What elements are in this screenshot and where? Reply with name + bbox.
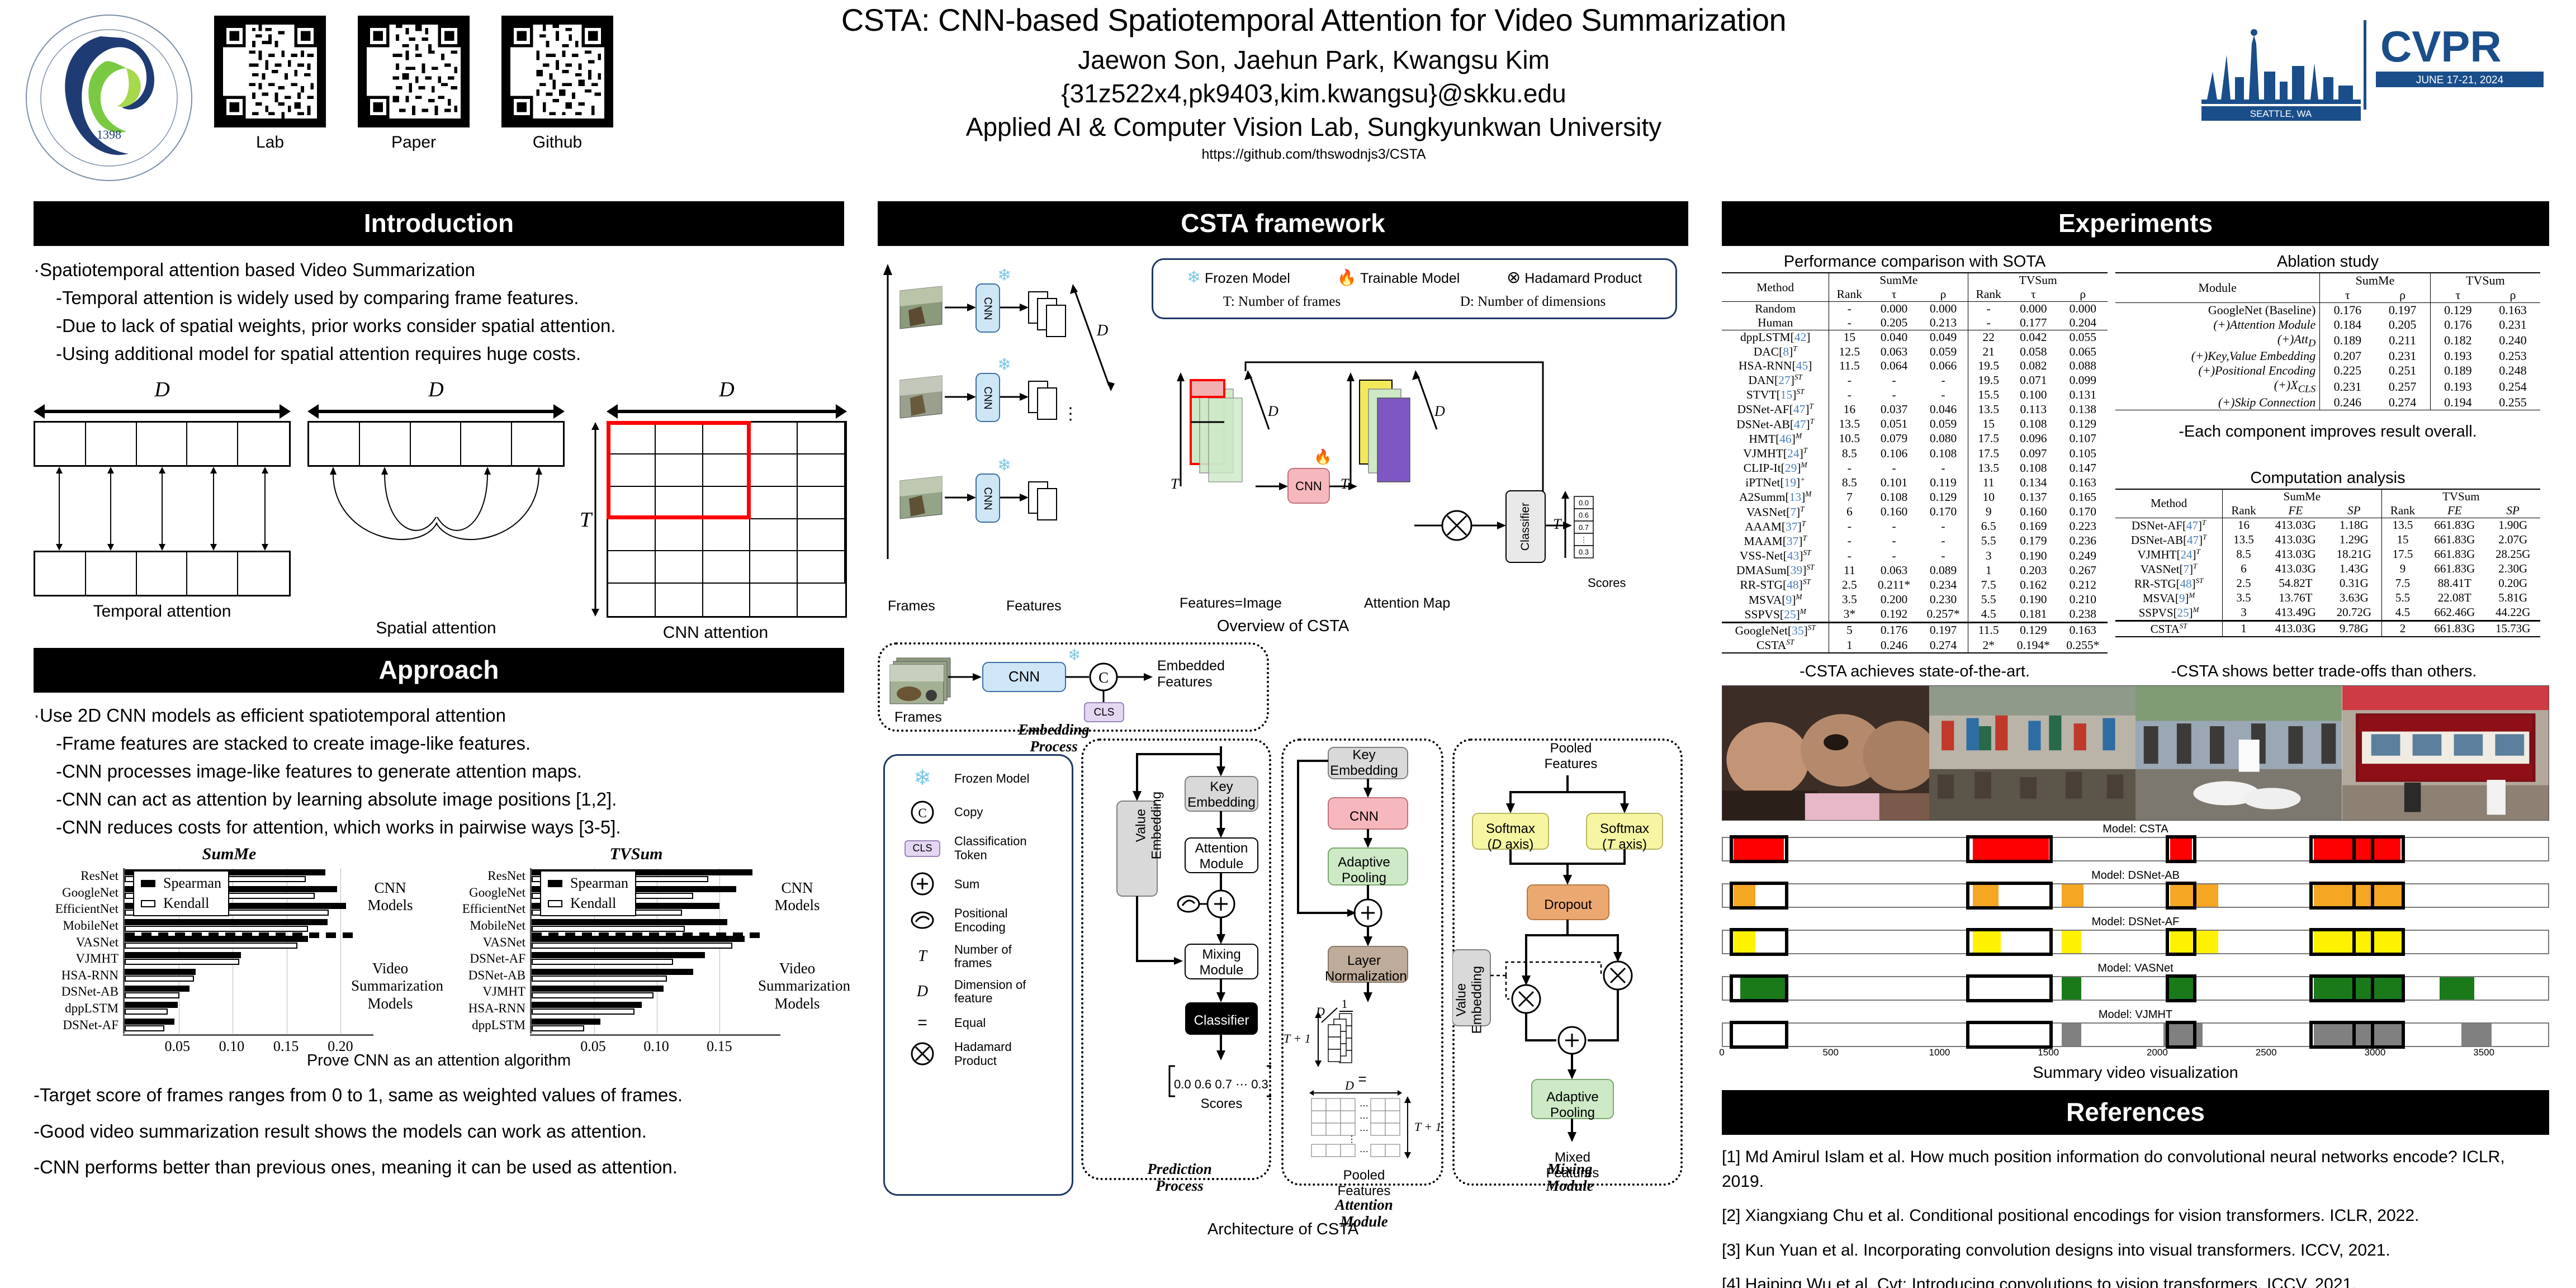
table-row: GoogleNet (Baseline)0.1760.1970.1290.163 [2115,303,2540,318]
approach-sub-1: -CNN processes image-like features to ge… [56,757,844,785]
section-band-experiments: Experiments [1722,201,2549,246]
table-row: (+)Skip Connection0.2460.2740.1940.255 [2115,395,2540,410]
computation-note: -CSTA shows better trade-offs than other… [2108,662,2540,681]
svg-text:T + 1: T + 1 [1414,1120,1442,1134]
cvpr-location: SEATTLE, WA [2250,108,2312,119]
video-axis-tick-label: 1000 [1929,1047,1950,1058]
t-symbol-icon: T [892,936,953,970]
chart-y-tick-label: MobileNet [34,918,119,933]
video-timeline-bar[interactable] [1722,837,2549,861]
intro-bullet: ·Spatiotemporal attention based Video Su… [34,256,844,284]
attention-key-embedding-label: KeyEmbedding [1325,747,1403,778]
chart-x-tick-label: 0.10 [643,1038,669,1055]
bar-spearman [125,1019,174,1025]
bar-spearman [532,936,745,942]
table-row: DSNet-AB[47]T13.50.0510.059150.1080.129 [1722,417,2108,432]
svg-text:D: D [1344,1078,1354,1092]
section-band-introduction: Introduction [34,201,844,246]
approach-charts: SumMe ResNetGoogleNetEfficientNetMobileN… [34,845,844,1050]
approach-conclusion-2: -CNN performs better than previous ones,… [34,1153,844,1181]
legend-t-def: T: Number of frames [1223,294,1341,310]
svg-text:0.0: 0.0 [1579,499,1589,507]
prediction-value-embedding-label: ValueEmbedding [1133,778,1164,873]
positional-encoding-icon [907,906,937,932]
video-frame-strip [1722,685,2549,821]
chart-x-tick-label: 0.15 [707,1038,732,1055]
embedding-frames-label: Frames [894,709,942,726]
video-segment [2461,1024,2492,1046]
fig-cnn-row-label: T [580,508,591,532]
bar-spearman [532,1019,600,1025]
table-row: (+)XCLS0.2310.2570.1930.254 [2115,378,2540,395]
chart-y-tick-label: dppLSTM [34,1001,119,1016]
chart-y-tick-label: DSNet-AF [441,951,525,966]
bar-kendall [125,992,179,998]
symbol-label-7: Equal [954,1007,1065,1032]
introduction-content: ·Spatiotemporal attention based Video Su… [34,256,844,368]
column-right: Experiments Performance comparison with … [1722,201,2549,1288]
symbol-label-6: Dimension offeature [954,972,1065,1006]
video-axis-tick-label: 1500 [2038,1047,2059,1058]
fig-temporal-top-row [34,421,291,467]
chart-annotation-cnn-models: CNNModels [764,879,831,914]
svg-text:T: T [1171,476,1180,492]
table-row: MAAM[37]T---5.50.1790.236 [1722,534,2108,548]
svg-text:CNN: CNN [982,297,993,320]
skku-logo: 1398 [17,11,201,184]
svg-text:=: = [1358,1071,1366,1087]
cls-token-icon: CLS [905,840,940,857]
approach-sub-3: -CNN reduces costs for attention, which … [56,813,844,841]
symbol-label-1: Copy [954,792,1065,827]
chart-y-tick-label: HSA-RNN [34,968,119,983]
svg-text:❄: ❄ [997,456,1011,475]
overview-features-label: Features [1006,598,1062,614]
fig-spatial-caption: Spatial attention [307,619,565,638]
fig-temporal-caption: Temporal attention [34,602,291,621]
approach-conclusion-1: -Good video summarization result shows t… [34,1117,844,1145]
mixing-value-embedding-label: ValueEmbedding [1453,955,1484,1045]
table-row: DAC[8]T12.50.0630.059210.0580.065 [1722,344,2108,359]
table-row: (+)Key,Value Embedding0.2070.2310.1930.2… [2115,349,2540,363]
fig-spatial-row [307,421,565,467]
qr-image-lab [214,16,326,127]
cvpr-name: CVPR [2380,22,2502,71]
attention-cnn-label: CNN [1325,809,1403,825]
table-row: DMASum[39]ST110.0630.08910.2030.267 [1722,563,2108,577]
snowflake-icon: ❄ [1187,268,1201,287]
svg-text:0.6: 0.6 [1579,511,1589,519]
framework-architecture: CNN ❄ C CLS EmbeddedFeatures Frames Embe… [878,642,1688,1218]
svg-text:Classifier: Classifier [1519,503,1532,551]
chart-summe-title: SumMe [34,845,425,864]
svg-text:⋮: ⋮ [1062,405,1079,423]
qr-label-github: Github [533,133,582,152]
bar-spearman [532,919,727,925]
table-row: (+)Attention Module0.1840.2050.1760.231 [2115,318,2540,332]
video-segment [2440,977,2474,1000]
chart-y-tick-label: DSNet-AB [441,968,525,983]
experiment-notes: -CSTA achieves state-of-the-art. -CSTA s… [1722,662,2549,681]
bar-spearman [125,1002,178,1008]
poster-header: 1398 [0,0,2576,196]
table-row: GoogleNet[35]ST50.1760.19711.50.1290.163 [1722,622,2108,638]
table-row [1722,653,2108,654]
sota-note: -CSTA achieves state-of-the-art. [1722,662,2108,681]
ablation-note: -Each component improves result overall. [2115,423,2540,441]
video-timeline-bar[interactable] [1722,930,2549,954]
ablation-table: ModuleSumMeTVSumτρτρGoogleNet (Baseline)… [2115,272,2540,410]
equal-icon: = [892,1007,953,1032]
hadamard-icon: ⊗ [1507,268,1521,287]
bar-kendall [125,943,297,949]
svg-text:⋯: ⋯ [1360,1101,1368,1111]
bar-spearman [532,969,693,975]
video-keyframe-marker [2166,1021,2196,1049]
table-row: VJMHT[24]T8.50.1060.10817.50.0970.105 [1722,446,2108,461]
chart-y-tick-label: ResNet [34,869,119,883]
bar-spearman [125,969,196,975]
video-timeline-bar[interactable] [1722,976,2549,1001]
sota-block: Performance comparison with SOTA MethodS… [1722,249,2108,654]
qr-label-paper: Paper [391,133,436,152]
reference-item-0: [1] Md Amirul Islam et al. How much posi… [1722,1145,2549,1194]
chart-legend: SpearmanKendall [540,870,636,916]
chart-annotation-cnn-models: CNNModels [357,879,424,914]
chart-y-tick-label: MobileNet [441,918,525,933]
svg-text:⋮: ⋮ [1580,536,1588,544]
affiliation: Applied AI & Computer Vision Lab, Sungky… [643,111,1985,144]
qr-image-github [501,16,613,127]
fire-icon: 🔥 [1337,269,1357,286]
symbol-label-2: ClassificationToken [954,828,1065,862]
video-model-label: Model: CSTA [1722,823,2549,836]
video-frame-1 [1929,686,2136,820]
bar-kendall [125,959,239,965]
table-row: CLIP-It[29]M---13.50.1080.147 [1722,461,2108,475]
computation-table: MethodSumMeTVSumRankFESPRankFESPDSNet-AF… [2115,489,2540,637]
video-frame-2 [2135,686,2342,820]
video-model-label: Model: DSNet-AB [1722,869,2549,882]
framework-legend-box: ❄ Frozen Model 🔥 Trainable Model ⊗ Hadam… [1152,258,1677,319]
table-row: AAAM[37]T---6.50.1690.223 [1722,519,2108,534]
title-block: CSTA: CNN-based Spatiotemporal Attention… [643,2,1985,163]
column-middle: CSTA framework [878,201,1688,1239]
qr-code-github[interactable]: Github [501,16,613,152]
video-keyframe-marker [2166,882,2196,910]
fig-temporal-dim-arrow [34,402,291,421]
approach-conclusions: -Target score of frames ranges from 0 to… [34,1081,844,1181]
svg-text:1: 1 [1342,997,1348,1011]
project-url[interactable]: https://github.com/thswodnjs3/CSTA [643,146,1985,163]
intro-figures: D [34,372,844,640]
email: {31z522x4,pk9403,kim.kwangsu}@skku.edu [643,77,1985,111]
chart-summe: SumMe ResNetGoogleNetEfficientNetMobileN… [34,845,425,1050]
approach-sub-0: -Frame features are stacked to create im… [56,730,844,757]
table-row: VJMHT[24]T8.5413.03G18.21G17.5661.83G28.… [2115,547,2540,562]
symbol-label-5: Number offrames [954,936,1065,970]
video-model-label: Model: DSNet-AF [1722,916,2549,929]
bar-kendall [532,992,654,998]
video-keyframe-marker [2166,835,2196,863]
qr-code-paper[interactable]: Paper [358,16,470,152]
video-axis-tick-label: 0 [1719,1047,1724,1058]
symbol-label-4: PositionalEncoding [954,899,1065,935]
spacer [1722,861,2549,869]
bar-spearman [125,936,308,942]
video-keyframe-marker [1966,835,2053,863]
chart-x-tick-label: 0.20 [328,1038,353,1055]
table-row: Human-0.2050.213-0.1770.204 [1722,316,2108,330]
chart-x-tick-label: 0.15 [273,1038,299,1055]
chart-summe-area: ResNetGoogleNetEfficientNetMobileNetVASN… [34,866,425,1050]
overview-attention-map-label: Attention Map [1364,595,1450,612]
table-row: CSTAST10.2460.2742*0.194*0.255* [1722,638,2108,653]
bar-kendall [125,1025,164,1031]
d-symbol-icon: D [892,972,953,1006]
video-visualization: Model: CSTAModel: DSNet-ABModel: DSNet-A… [1722,823,2549,1060]
video-keyframe-marker [2352,928,2404,956]
experiments-tables: Performance comparison with SOTA MethodS… [1722,249,2549,654]
svg-text:D: D [1315,1005,1325,1019]
chart-y-tick-label: HSA-RNN [441,1001,525,1016]
chart-x-tick-label: 0.05 [580,1038,606,1055]
fig-spatial-dim-arrow [307,402,565,421]
video-keyframe-marker [2166,928,2196,956]
video-model-label: Model: VASNet [1722,962,2549,975]
svg-text:C: C [1098,669,1109,686]
reference-item-2: [3] Kun Yuan et al. Incorporating convol… [1722,1238,2549,1263]
gridline [340,868,341,1034]
fig-temporal-dim-label: D [34,377,291,402]
table-row: (+)AttD0.1890.2110.1820.240 [2115,332,2540,349]
svg-text:CLS: CLS [1094,707,1115,718]
bar-spearman [532,1002,642,1008]
intro-sub-1: -Due to lack of spatial weights, prior w… [56,312,844,340]
chart-tvsum-area: ResNetGoogleNetEfficientNetMobileNetVASN… [441,866,832,1050]
bar-kendall [532,926,685,932]
section-band-references: References [1722,1090,2549,1135]
fig-temporal-bottom-row [34,551,291,596]
chart-y-tick-label: VASNet [441,935,525,950]
intro-sub-2: -Using additional model for spatial atte… [56,340,844,368]
prediction-attention-module-label: AttentionModule [1185,841,1258,872]
fig-cnn-dim-label: D [584,377,847,402]
svg-text:❄: ❄ [997,355,1011,375]
table-row: dppLSTM[42]150.0400.049220.0420.055 [1722,330,2108,345]
bar-spearman [125,986,190,992]
video-axis-ticks: 0500100015002000250030003500 [1722,1047,2549,1060]
chart-x-axis [530,1034,780,1036]
table-row: MethodSumMeTVSum [1722,273,2108,287]
mixing-pooled-features-label: PooledFeatures [1532,741,1610,771]
table-row: DSNet-AB[47]T13.5413.03G1.29G15661.83G2.… [2115,533,2540,547]
svg-text:❄: ❄ [997,266,1011,285]
fig-temporal-attention: D [34,377,291,621]
table-row: (+)Positional Encoding0.2250.2510.1890.2… [2115,363,2540,378]
symbol-label-3: Sum [954,863,1065,898]
ablation-caption: Ablation study [2115,253,2540,271]
attention-adaptive-pooling-label: AdaptivePooling [1325,855,1403,885]
spacer [1722,954,2549,962]
page-title: CSTA: CNN-based Spatiotemporal Attention… [643,2,1985,38]
video-axis-tick-label: 3000 [2364,1047,2385,1058]
bar-kendall [532,1008,634,1015]
overview-pipeline: D CNN 🔥 D [1152,358,1677,598]
chart-y-tick-label: VJMHT [34,951,119,966]
overview-scores-label: Scores [1588,576,1626,590]
architecture-caption: Architecture of CSTA [878,1220,1688,1239]
svg-text:CNN: CNN [982,386,993,409]
approach-sub-2: -CNN can act as attention by learning ab… [56,785,844,813]
mixing-module-name: MixingModule [1503,1161,1637,1194]
fig-cnn-caption: CNN attention [584,623,847,642]
table-row: A2Summ[13]M70.1080.129100.1370.165 [1722,490,2108,504]
qr-label-lab: Lab [256,133,284,152]
plus-icon [907,870,937,896]
attention-module-name: AttentionModule [1308,1197,1420,1230]
chart-legend: SpearmanKendall [133,870,229,916]
video-keyframe-marker [2352,835,2404,863]
section-band-approach: Approach [34,648,844,693]
chart-y-tick-label: GoogleNet [34,885,119,900]
bar-spearman [532,952,705,958]
svg-text:T: T [1341,476,1349,492]
symbol-legend-panel: ❄ Frozen Model C Copy CLS Classification… [883,754,1073,1196]
video-keyframe-marker [1966,882,2053,910]
video-timeline-bar[interactable] [1722,883,2549,908]
svg-text:C: C [918,806,926,820]
chart-annotation-video-models: VideoSummarizationModels [758,960,836,1012]
intro-sub-0: -Temporal attention is widely used by co… [56,284,844,312]
svg-text:⋯: ⋯ [1360,1114,1368,1123]
overview-features-image-label: Features=Image [1180,595,1282,612]
bar-kendall [125,1008,168,1015]
approach-bullet: ·Use 2D CNN models as efficient spatiote… [34,702,844,730]
video-keyframe-marker [1730,1021,1788,1049]
video-timeline-bar[interactable] [1722,1022,2549,1047]
fig-cnn-dim-arrow [607,402,847,421]
computation-caption: Computation analysis [2115,469,2540,487]
video-segment [2062,884,2083,907]
table-row: SSPVS[25]M3*0.1920.257*4.50.1810.238 [1722,607,2108,623]
svg-text:CNN: CNN [1295,479,1322,493]
table-row: MSVA[9]M3.513.76T3.63G5.522.08T5.81G [2115,591,2540,605]
video-caption: Summary video visualization [1722,1064,2549,1082]
table-row: Random-0.0000.000-0.0000.000 [1722,302,2108,316]
chart-y-tick-label: DSNet-AB [34,984,119,999]
mixing-softmax-t-label: Softmax(T axis) [1587,821,1663,852]
overview-frames-label: Frames [888,598,935,614]
framework-overview: CNN CNN CNN ❄❄❄ [878,252,1688,621]
svg-text:D: D [1096,322,1108,339]
svg-text:D: D [1267,403,1278,419]
table-row: DAN[27]ST---19.50.0710.099 [1722,373,2108,387]
svg-text:⋮: ⋮ [1347,1135,1356,1144]
bar-kendall [125,976,194,982]
video-keyframe-marker [2352,882,2404,910]
mixing-softmax-d-label: Softmax(D axis) [1472,821,1549,852]
bar-kendall [532,976,667,982]
chart-y-tick-label: VJMHT [441,984,525,999]
attention-layer-norm-label: LayerNormalization [1325,953,1403,984]
svg-text:0.7: 0.7 [1579,523,1589,532]
svg-text:1398: 1398 [97,127,121,141]
cvpr-logo: CVPR SEATTLE, WA JUNE 17-21, 2024 [2196,10,2554,122]
bar-spearman [125,919,328,925]
table-row: SSPVS[25]M3413.49G20.72G4.5662.46G44.22G [2115,605,2540,621]
chart-tvsum: TVSum ResNetGoogleNetEfficientNetMobileN… [441,845,832,1050]
chart-y-tick-label: VASNet [34,935,119,950]
fig-spatial-attention: D [307,377,565,638]
chart-tvsum-title: TVSum [441,845,832,864]
video-axis-tick-label: 2000 [2147,1047,2168,1058]
prediction-mixing-module-label: MixingModule [1185,947,1258,978]
video-keyframe-marker [1730,928,1788,956]
chart-y-tick-label: DSNet-AF [34,1018,119,1033]
copy-icon: C [907,798,937,824]
fig-cnn-attention: D T [584,377,847,642]
sota-table: MethodSumMeTVSumRankτρRankτρRandom-0.000… [1722,272,2108,654]
table-row [2115,410,2540,410]
table-row: VASNet[7]T60.1600.17090.1600.170 [1722,505,2108,519]
poster-root: 1398 [0,0,2576,1288]
bar-kendall [125,926,308,932]
chart-x-tick-label: 0.10 [219,1038,245,1055]
video-keyframe-marker [2352,974,2404,1002]
table-row: ModuleSumMeTVSum [2115,273,2540,288]
svg-text:⋯: ⋯ [1360,1126,1368,1135]
mixing-adaptive-pooling-label: AdaptivePooling [1532,1090,1613,1120]
legend-hadamard-label: Hadamard Product [1524,271,1642,286]
video-keyframe-marker [1966,974,2053,1002]
video-axis-tick-label: 2500 [2256,1047,2277,1058]
approach-conclusion-0: -Target score of frames ranges from 0 to… [34,1081,844,1109]
table-row: MSVA[9]M3.50.2000.2305.50.1900.210 [1722,593,2108,607]
video-segment [2062,1024,2081,1046]
legend-d-def: D: Number of dimensions [1460,294,1606,310]
sota-caption: Performance comparison with SOTA [1722,253,2108,271]
fig-temporal-arrows [34,467,291,551]
table-row: RR-STG[48]ST2.50.211*0.2347.50.1620.212 [1722,577,2108,592]
table-row: HMT[46]M10.50.0790.08017.50.0960.107 [1722,432,2108,446]
video-axis-tick-label: 3500 [2473,1047,2494,1058]
qr-code-lab[interactable]: Lab [214,16,326,152]
column-left: Introduction ·Spatiotemporal attention b… [34,201,844,1181]
video-segment [2062,977,2081,1000]
legend-trainable-label: Trainable Model [1360,271,1460,286]
table-row: DSNet-AF[47]T16413.03G1.18G13.5661.83G1.… [2115,518,2540,533]
table-row: HSA-RNN[45]11.50.0640.06619.50.0820.088 [1722,359,2108,373]
prediction-key-embedding-label: KeyEmbedding [1185,779,1258,810]
svg-text:CNN: CNN [1008,668,1040,685]
reference-item-3: [4] Haiping Wu et al. Cvt: Introducing c… [1722,1272,2549,1288]
prediction-scores-label: Scores [1191,1096,1252,1112]
video-keyframe-marker [1966,928,2053,956]
video-keyframe-marker [1730,835,1788,863]
chart-x-axis [123,1034,373,1036]
snowflake-icon: ❄ [913,766,931,790]
table-row: DSNet-AF[47]T160.0370.04613.50.1130.138 [1722,402,2108,416]
authors: Jaewon Son, Jaehun Park, Kwangsu Kim [643,44,1985,77]
table-row: RR-STG[48]ST2.554.82T0.31G7.588.41T0.20G [2115,576,2540,591]
symbol-label-0: Frozen Model [954,767,1065,790]
video-segment [2062,931,2081,953]
svg-text:T + 1: T + 1 [1284,1031,1311,1045]
gridline [719,868,720,1034]
prediction-process-name: PredictionProcess [1118,1161,1241,1194]
fig-spatial-arrows [307,467,565,567]
